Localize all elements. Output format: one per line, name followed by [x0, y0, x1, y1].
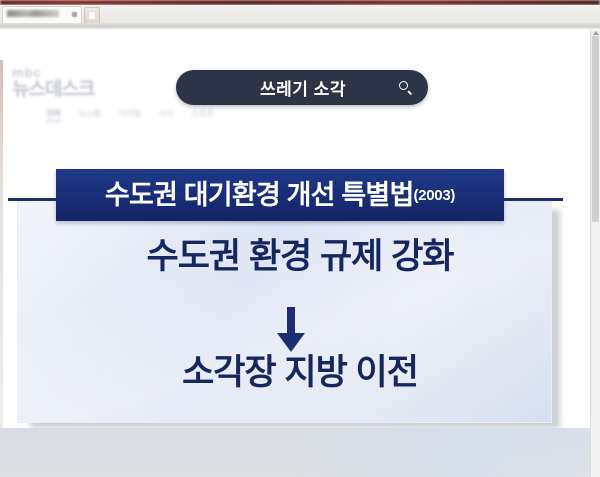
search-bar[interactable]: 쓰레기 소각: [176, 70, 428, 105]
page-scrollbar[interactable]: [590, 30, 600, 477]
nav-tab-2[interactable]: 디지털: [119, 108, 141, 122]
background-video-area: [0, 428, 600, 477]
graphic-line-2: 소각장 지방 이전: [0, 355, 600, 390]
mbc-newsdesk-logo: mbc 뉴스데스크: [12, 66, 94, 99]
browser-tab-title: [7, 10, 59, 17]
search-icon[interactable]: [398, 80, 414, 96]
arrow-down-icon: [272, 307, 310, 352]
nav-tabs: 전체 뉴스룸 디지털 시사 스포츠: [46, 108, 214, 122]
nav-tab-3[interactable]: 시사: [159, 108, 174, 122]
nav-tab-4[interactable]: 스포츠: [192, 108, 214, 122]
search-query-text: 쓰레기 소각: [194, 75, 398, 100]
close-icon[interactable]: [72, 12, 77, 17]
graphic-line-1: 수도권 환경 규제 강화: [0, 239, 600, 274]
page-content: mbc 뉴스데스크 전체 뉴스룸 디지털 시사 스포츠 쓰레기 소각 수도권 대…: [0, 30, 600, 477]
banner-rule-right: [501, 198, 563, 201]
nav-tab-0[interactable]: 전체: [46, 108, 61, 122]
nav-tab-1[interactable]: 뉴스룸: [79, 108, 101, 122]
logo-mbc-text: mbc: [12, 66, 94, 79]
logo-newsdesk-text: 뉴스데스크: [12, 80, 94, 99]
scrollbar-thumb[interactable]: [592, 36, 599, 222]
background-sheen: [295, 428, 600, 477]
browser-tab-strip: [0, 5, 600, 24]
law-year-text: (2003): [414, 187, 456, 204]
browser-toolbar-shadow: [0, 23, 600, 30]
law-title-text: 수도권 대기환경 개선 특별법: [105, 182, 414, 209]
law-title-banner: 수도권 대기환경 개선 특별법(2003): [56, 169, 504, 221]
new-tab-button[interactable]: [84, 7, 100, 24]
scroll-up-icon[interactable]: [593, 31, 599, 35]
browser-tab[interactable]: [2, 6, 82, 23]
screenshot-root: mbc 뉴스데스크 전체 뉴스룸 디지털 시사 스포츠 쓰레기 소각 수도권 대…: [0, 0, 600, 477]
